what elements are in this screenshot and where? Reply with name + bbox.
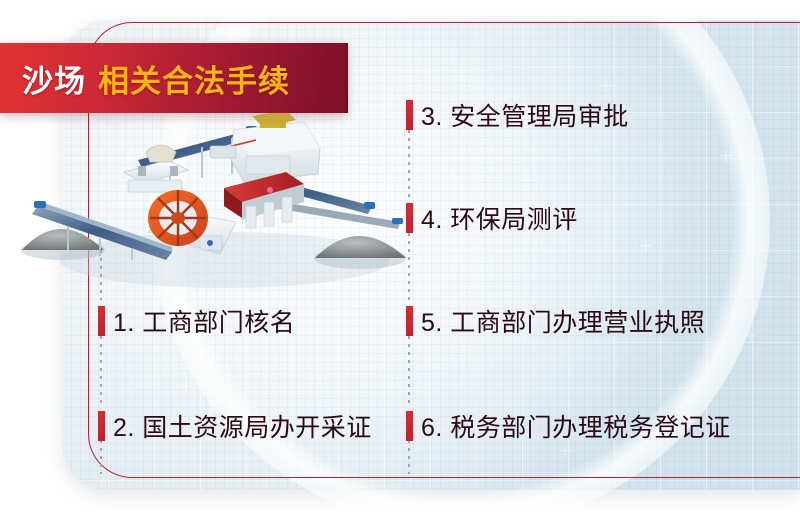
marker-bar-icon bbox=[406, 306, 413, 336]
connector-dots bbox=[408, 233, 410, 301]
connector-dots bbox=[408, 336, 410, 406]
marker-bar-icon bbox=[406, 100, 413, 130]
crusher bbox=[210, 110, 320, 182]
list-item-label: 3. 安全管理局审批 bbox=[421, 97, 629, 133]
marker-bar-icon bbox=[406, 203, 413, 233]
connector-dots bbox=[408, 130, 410, 198]
connector-dots bbox=[100, 250, 102, 300]
list-item-1[interactable]: 1. 工商部门核名 bbox=[98, 303, 295, 339]
list-item-label: 2. 国土资源局办开采证 bbox=[113, 408, 372, 444]
list-item-label: 4. 环保局测评 bbox=[421, 200, 578, 236]
list-item-label: 5. 工商部门办理营业执照 bbox=[421, 303, 705, 339]
marker-bar-icon bbox=[98, 306, 105, 336]
list-item-label: 6. 税务部门办理税务登记证 bbox=[421, 408, 731, 444]
marker-bar-icon bbox=[406, 411, 413, 441]
list-item-5[interactable]: 5. 工商部门办理营业执照 bbox=[406, 303, 705, 339]
infographic-stage: 3. 安全管理局审批 4. 环保局测评 1. 工商部门核名 2. 国土资源局办开… bbox=[0, 0, 800, 530]
list-item-6[interactable]: 6. 税务部门办理税务登记证 bbox=[406, 408, 731, 444]
list-item-label: 1. 工商部门核名 bbox=[113, 303, 295, 339]
connector-dots bbox=[100, 336, 102, 406]
marker-bar-icon bbox=[98, 411, 105, 441]
banner-title-main: 沙场 bbox=[22, 56, 86, 101]
vibrating-screen bbox=[224, 172, 304, 228]
connector-dots bbox=[408, 440, 410, 474]
list-item-4[interactable]: 4. 环保局测评 bbox=[406, 200, 578, 236]
sand-production-line-illustration bbox=[20, 110, 420, 300]
title-banner: 沙场 相关合法手续 bbox=[0, 43, 346, 113]
banner-title-sub: 相关合法手续 bbox=[98, 56, 290, 101]
list-item-3[interactable]: 3. 安全管理局审批 bbox=[406, 97, 629, 133]
connector-dots bbox=[100, 440, 102, 474]
list-item-2[interactable]: 2. 国土资源局办开采证 bbox=[98, 408, 372, 444]
